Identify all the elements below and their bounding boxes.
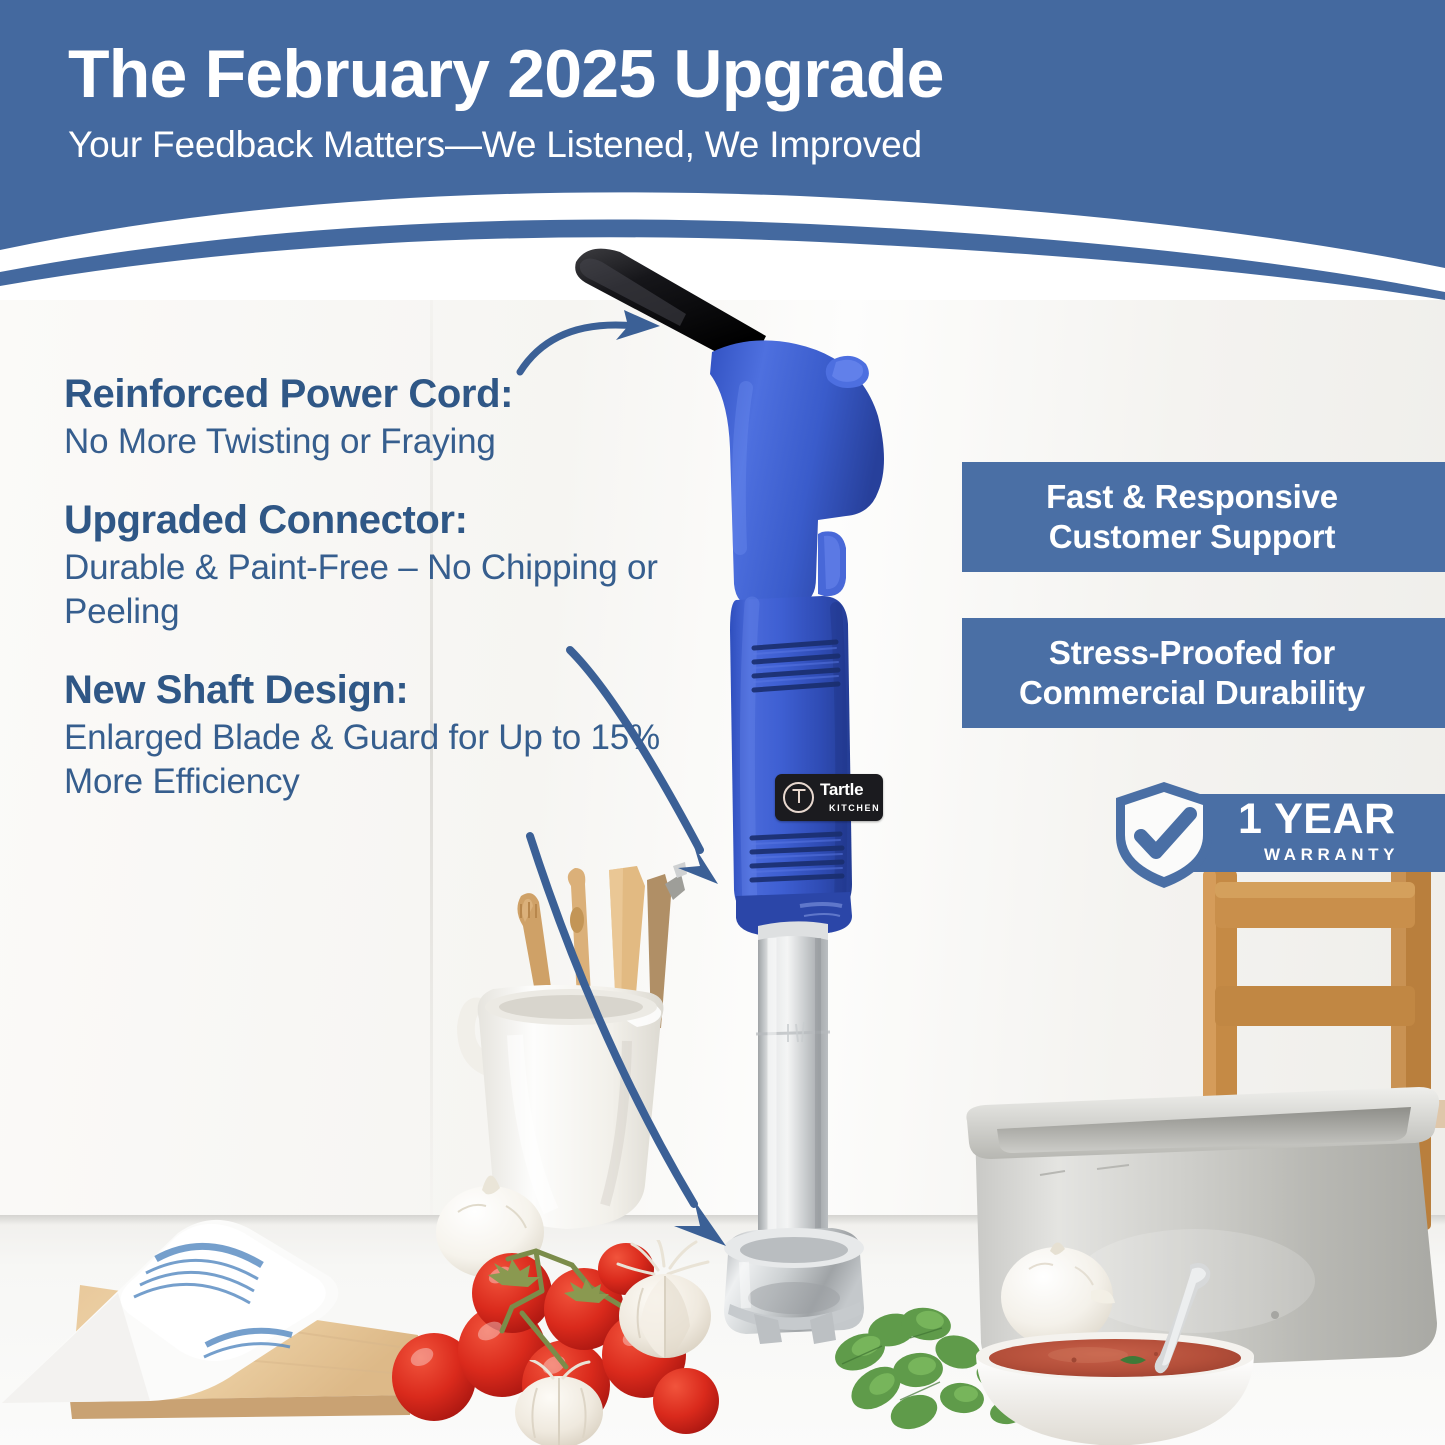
brand-sub: KITCHEN [829, 803, 880, 813]
brand-name: Tartle [820, 780, 863, 799]
striped-kitchen-towel [0, 1195, 430, 1410]
feature-item-shaft: New Shaft Design: Enlarged Blade & Guard… [64, 668, 664, 804]
badge-customer-support: Fast & Responsive Customer Support [962, 462, 1445, 572]
feature-item-connector: Upgraded Connector: Durable & Paint-Free… [64, 498, 664, 634]
feature-description: No More Twisting or Fraying [64, 420, 664, 464]
badge-line-2: Commercial Durability [1019, 674, 1365, 711]
badge-line-1: Stress-Proofed for [1049, 634, 1335, 671]
badge-commercial-durability: Stress-Proofed for Commercial Durability [962, 618, 1445, 728]
feature-list: Reinforced Power Cord: No More Twisting … [64, 372, 664, 804]
garlic-bulb-c [505, 1360, 615, 1445]
warranty-word: WARRANTY [1264, 846, 1399, 863]
feature-title: Upgraded Connector: [64, 498, 664, 543]
page-subtitle: Your Feedback Matters—We Listened, We Im… [68, 124, 1318, 166]
feature-title: Reinforced Power Cord: [64, 372, 664, 417]
feature-item-power-cord: Reinforced Power Cord: No More Twisting … [64, 372, 664, 464]
badge-line-2: Customer Support [1049, 518, 1335, 555]
warranty-labels: 1 YEAR WARRANTY [1238, 798, 1399, 863]
warranty-badge: 1 YEAR WARRANTY [1108, 778, 1445, 890]
t-monogram-icon [783, 782, 814, 813]
page-title: The February 2025 Upgrade [68, 38, 1318, 110]
spoon [1140, 1255, 1230, 1380]
feature-description: Durable & Paint-Free – No Chipping or Pe… [64, 546, 664, 634]
brand-label: Tartle KITCHEN [775, 774, 883, 821]
feature-title: New Shaft Design: [64, 668, 664, 713]
badge-text: Fast & Responsive Customer Support [1046, 477, 1398, 558]
feature-description: Enlarged Blade & Guard for Up to 15% Mor… [64, 716, 664, 804]
shield-check-icon [1108, 778, 1220, 890]
badge-line-1: Fast & Responsive [1046, 478, 1338, 515]
badge-text: Stress-Proofed for Commercial Durability [1019, 633, 1425, 714]
warranty-duration: 1 YEAR [1238, 798, 1399, 841]
infographic-page: Tartle KITCHEN The February 2025 Upgrade… [0, 0, 1445, 1445]
